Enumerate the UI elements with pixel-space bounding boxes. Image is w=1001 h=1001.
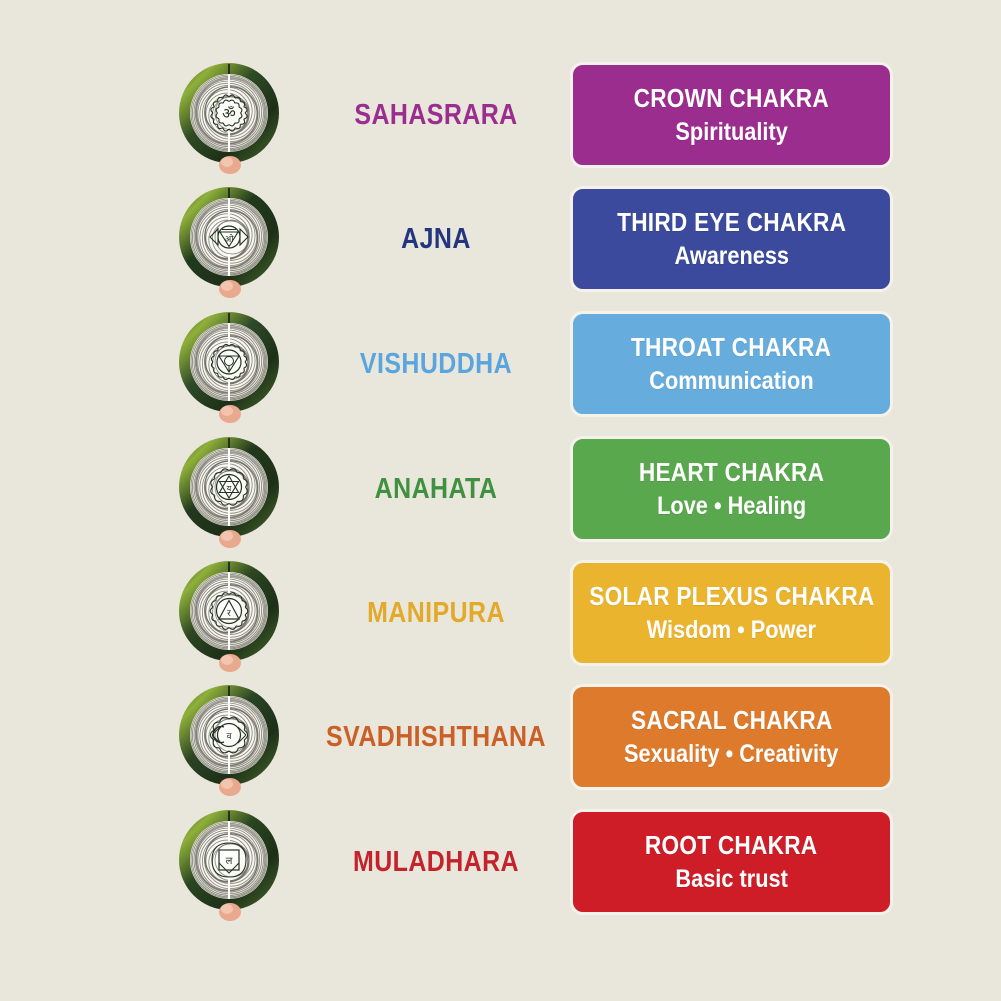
chakra-color-box: CROWN CHAKRASpirituality xyxy=(570,62,893,168)
chakra-row: ओAJNATHIRD EYE CHAKRAAwareness xyxy=(0,186,1001,292)
chakra-row: ॐSAHASRARACROWN CHAKRASpirituality xyxy=(0,62,1001,168)
throat-triangle-icon xyxy=(168,303,290,425)
hexagram-heart-icon: य xyxy=(168,428,290,550)
chakra-color-box: HEART CHAKRALove • Healing xyxy=(570,436,893,542)
svg-text:ॐ: ॐ xyxy=(222,105,236,123)
crescent-moon-icon: व xyxy=(168,676,290,798)
chakra-color-box: ROOT CHAKRABasic trust xyxy=(570,809,893,915)
sanskrit-name-label: VISHUDDHA xyxy=(319,311,553,417)
third-eye-icon: ओ xyxy=(168,178,290,300)
svg-text:ल: ल xyxy=(226,856,233,867)
chakra-name-label: HEART CHAKRA xyxy=(639,459,824,486)
sanskrit-name-label: MANIPURA xyxy=(319,560,553,666)
sanskrit-name-label: ANAHATA xyxy=(319,436,553,542)
chakra-name-label: THROAT CHAKRA xyxy=(631,334,831,361)
chakra-meaning-label: Spirituality xyxy=(675,119,787,145)
om-lotus-icon: ॐ xyxy=(168,54,290,176)
chakra-color-box: THROAT CHAKRACommunication xyxy=(570,311,893,417)
chakra-name-label: ROOT CHAKRA xyxy=(645,832,818,859)
chakra-row: वSVADHISHTHANASACRAL CHAKRASexuality • C… xyxy=(0,684,1001,790)
chakra-name-label: THIRD EYE CHAKRA xyxy=(617,209,846,236)
svg-text:ओ: ओ xyxy=(224,233,234,245)
svg-text:य: य xyxy=(227,484,232,493)
chakra-color-box: THIRD EYE CHAKRAAwareness xyxy=(570,186,893,292)
chakra-meaning-label: Wisdom • Power xyxy=(647,617,816,643)
chakra-row: रMANIPURASOLAR PLEXUS CHAKRAWisdom • Pow… xyxy=(0,560,1001,666)
chakra-row: VISHUDDHATHROAT CHAKRACommunication xyxy=(0,311,1001,417)
chakra-name-label: SACRAL CHAKRA xyxy=(631,707,833,734)
svg-text:र: र xyxy=(227,609,231,619)
chakra-meaning-label: Sexuality • Creativity xyxy=(624,741,838,767)
chakra-name-label: CROWN CHAKRA xyxy=(634,85,829,112)
sanskrit-name-label: SAHASRARA xyxy=(319,62,553,168)
chakra-meaning-label: Awareness xyxy=(674,243,788,269)
chakra-row: यANAHATAHEART CHAKRALove • Healing xyxy=(0,436,1001,542)
chakra-color-box: SOLAR PLEXUS CHAKRAWisdom • Power xyxy=(570,560,893,666)
chakra-row: लMULADHARAROOT CHAKRABasic trust xyxy=(0,809,1001,915)
sanskrit-name-label: AJNA xyxy=(319,186,553,292)
solar-triangle-icon: र xyxy=(168,552,290,674)
chakra-meaning-label: Basic trust xyxy=(675,866,787,892)
chakra-color-box: SACRAL CHAKRASexuality • Creativity xyxy=(570,684,893,790)
chakra-name-label: SOLAR PLEXUS CHAKRA xyxy=(589,583,874,610)
chakra-meaning-label: Communication xyxy=(649,368,813,394)
root-square-icon: ल xyxy=(168,801,290,923)
sanskrit-name-label: MULADHARA xyxy=(319,809,553,915)
chakra-meaning-label: Love • Healing xyxy=(657,493,806,519)
sanskrit-name-label: SVADHISHTHANA xyxy=(319,684,553,790)
chakra-chart: ॐSAHASRARACROWN CHAKRASpiritualityओAJNAT… xyxy=(0,0,1001,1001)
